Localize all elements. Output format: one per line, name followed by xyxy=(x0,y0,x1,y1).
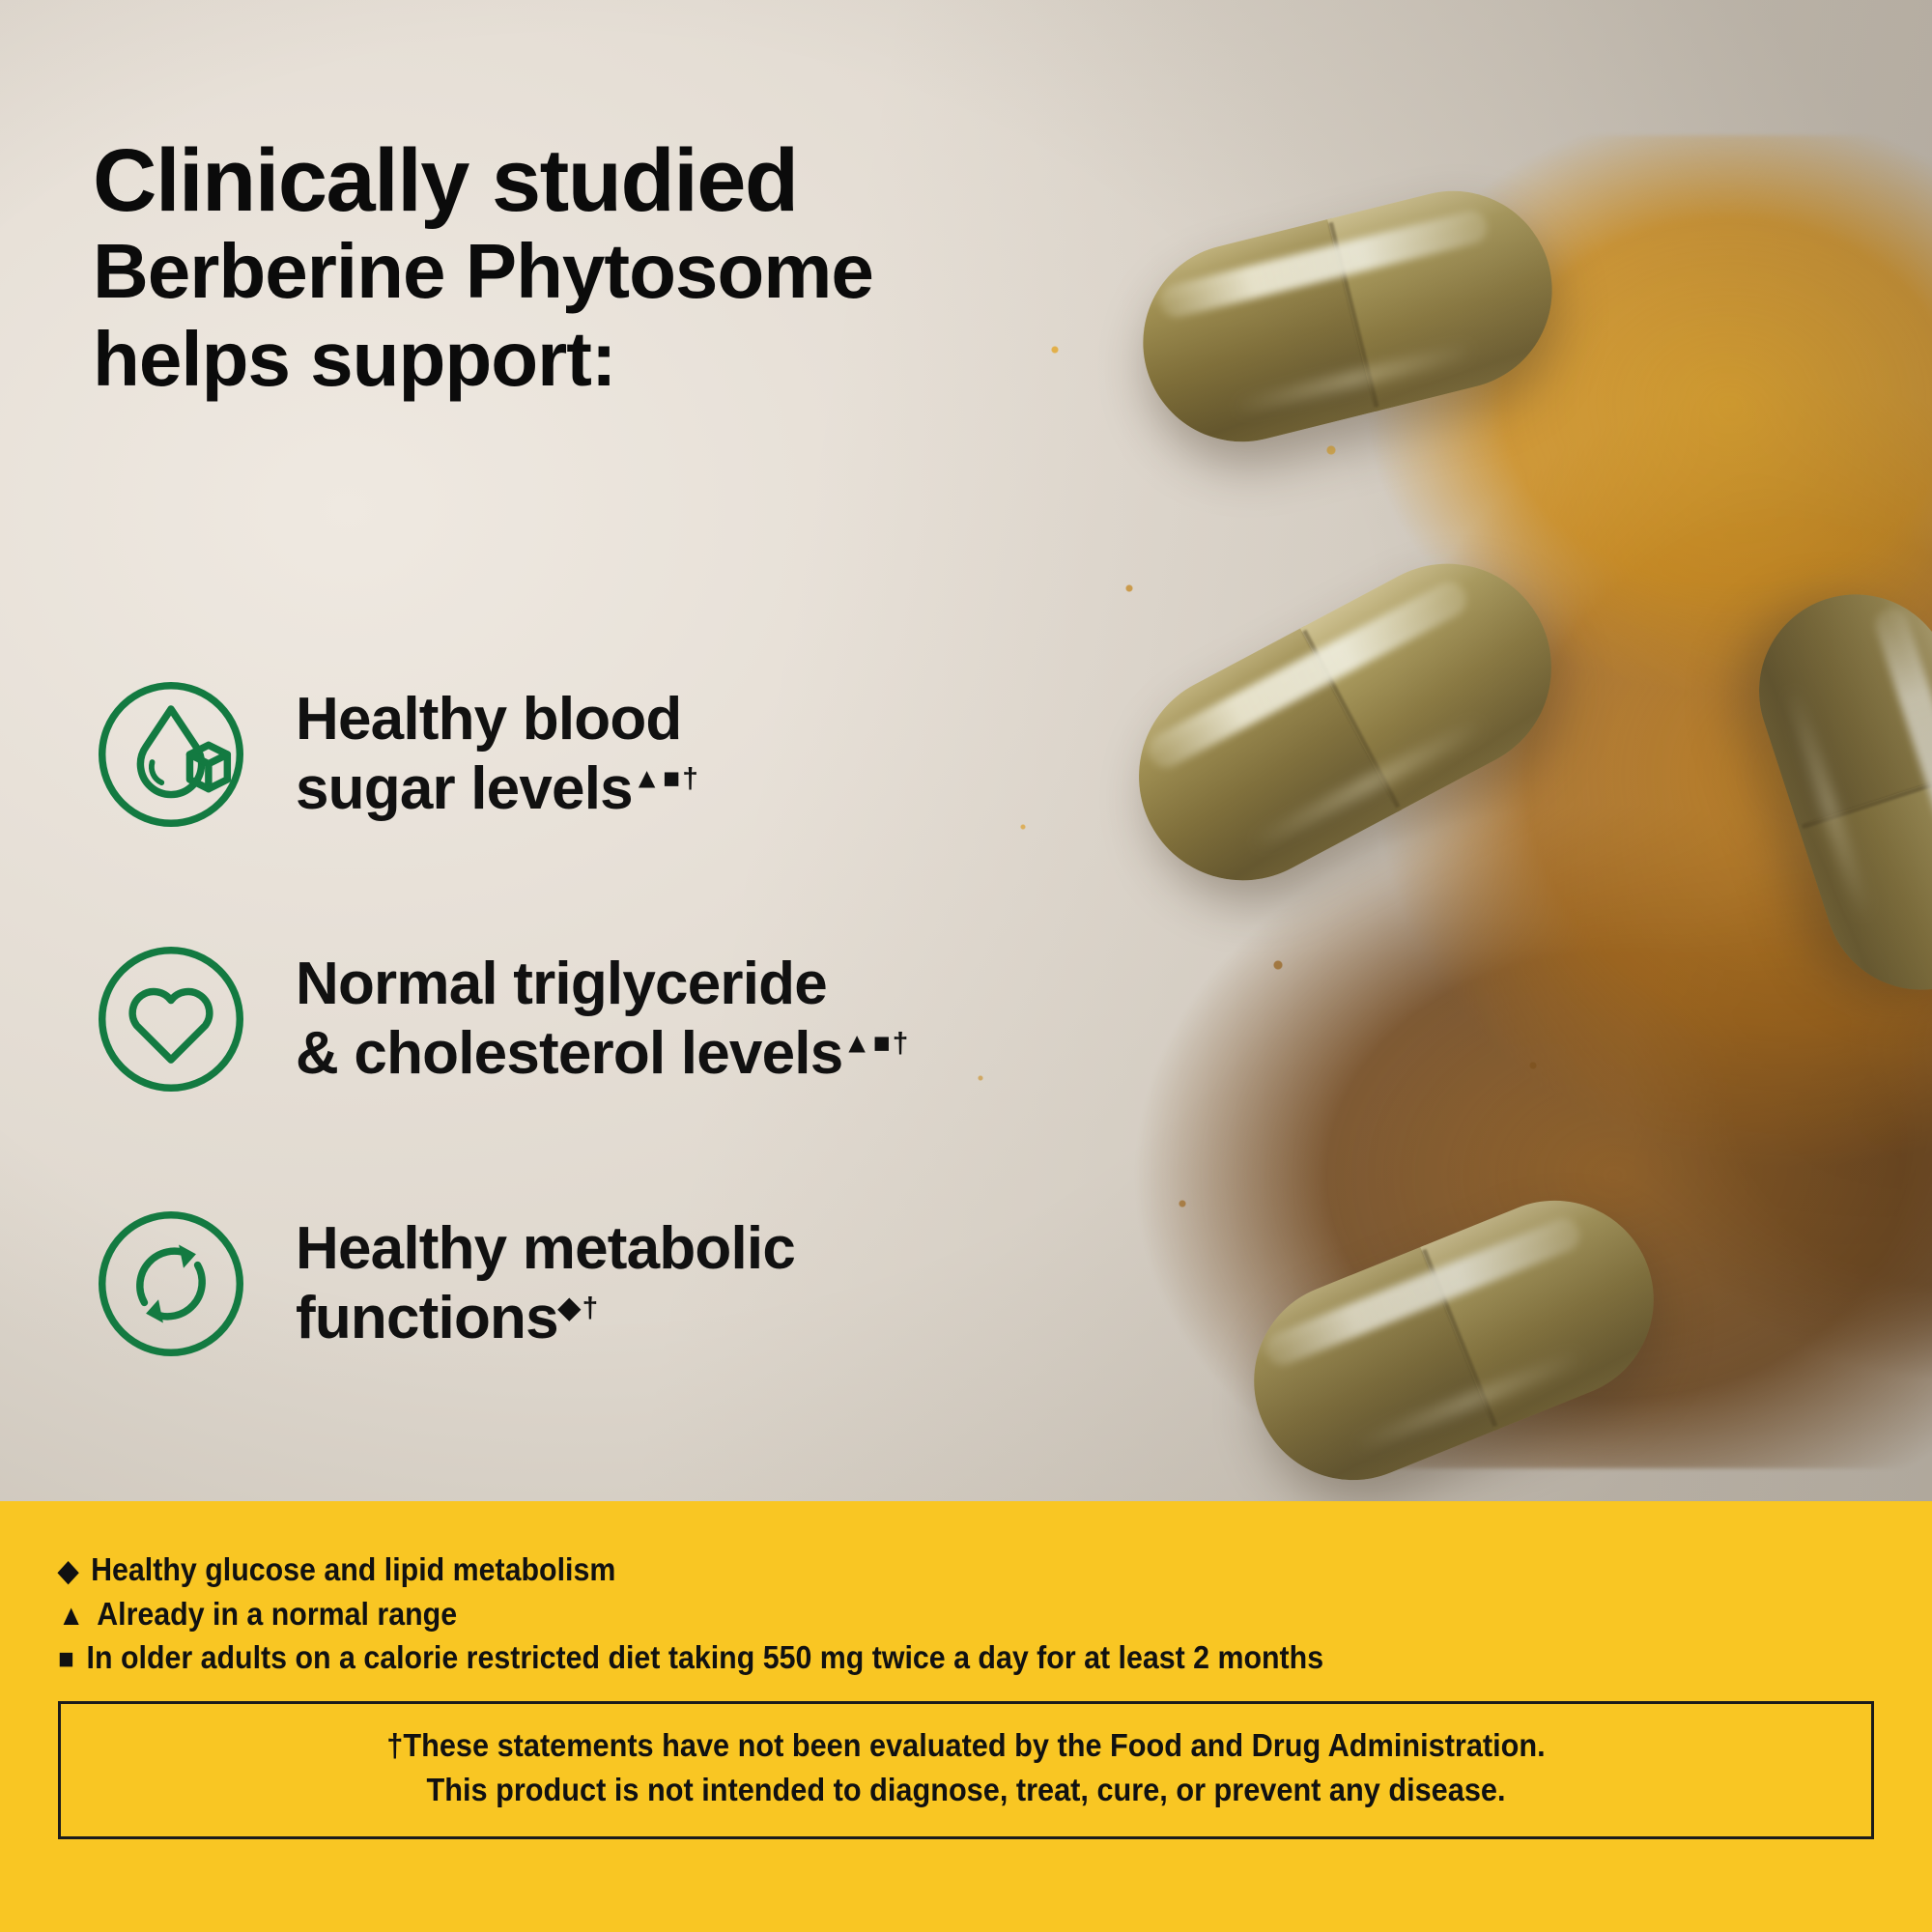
benefit-marks: ◆† xyxy=(558,1292,600,1323)
benefit-list: Healthy blood sugar levels▲■† Normal tri… xyxy=(93,676,1078,1362)
benefit-line-2: functions xyxy=(296,1285,558,1351)
fda-disclaimer-box: †These statements have not been evaluate… xyxy=(58,1701,1874,1840)
footnote-text: In older adults on a calorie restricted … xyxy=(87,1635,1324,1680)
benefit-marks: ▲■† xyxy=(842,1027,910,1059)
benefit-marks: ▲■† xyxy=(633,762,700,794)
triangle-mark-icon: ▲ xyxy=(58,1596,84,1635)
benefit-item: Normal triglyceride & cholesterol levels… xyxy=(93,941,1078,1097)
benefit-text: Healthy metabolic functions◆† xyxy=(296,1214,795,1353)
blood-drop-sugar-cube-icon xyxy=(93,676,249,833)
footnote-text: Healthy glucose and lipid metabolism xyxy=(91,1548,615,1592)
footnote-text: Already in a normal range xyxy=(97,1592,457,1636)
footnote-line: ■ In older adults on a calorie restricte… xyxy=(58,1635,1729,1680)
footnote-line: ◆ Healthy glucose and lipid metabolism xyxy=(58,1548,1729,1592)
fda-disclaimer-line-2: This product is not intended to diagnose… xyxy=(146,1768,1786,1813)
benefit-line-1: Healthy blood xyxy=(296,686,682,753)
headline: Clinically studied Berberine Phytosome h… xyxy=(93,135,1059,403)
benefit-line-1: Healthy metabolic xyxy=(296,1215,795,1282)
benefit-line-1: Normal triglyceride xyxy=(296,951,827,1017)
footnote-line: ▲ Already in a normal range xyxy=(58,1592,1729,1636)
headline-line-3: helps support: xyxy=(93,315,1059,403)
headline-line-2: Berberine Phytosome xyxy=(93,227,1059,315)
footnote-band: ◆ Healthy glucose and lipid metabolism ▲… xyxy=(0,1501,1932,1932)
benefit-text: Normal triglyceride & cholesterol levels… xyxy=(296,950,910,1089)
square-mark-icon: ■ xyxy=(58,1639,74,1679)
headline-line-1: Clinically studied xyxy=(93,135,1059,227)
benefit-line-2: sugar levels xyxy=(296,755,633,822)
fda-disclaimer-line-1: †These statements have not been evaluate… xyxy=(146,1723,1786,1769)
product-benefit-poster: Clinically studied Berberine Phytosome h… xyxy=(0,0,1932,1932)
heart-icon xyxy=(93,941,249,1097)
benefit-line-2: & cholesterol levels xyxy=(296,1020,842,1087)
cycle-arrows-icon xyxy=(93,1206,249,1362)
diamond-mark-icon: ◆ xyxy=(58,1551,78,1591)
benefit-item: Healthy metabolic functions◆† xyxy=(93,1206,1078,1362)
benefit-item: Healthy blood sugar levels▲■† xyxy=(93,676,1078,833)
benefit-text: Healthy blood sugar levels▲■† xyxy=(296,685,700,824)
